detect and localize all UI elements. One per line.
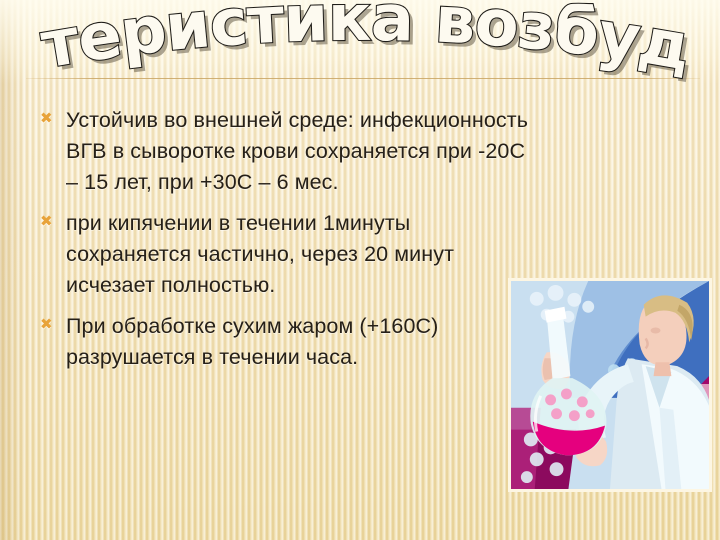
clipart-svg <box>511 281 709 489</box>
wordart-shadow-layer: Характеристика возбудителя <box>0 0 700 89</box>
title-divider-rule <box>26 78 700 79</box>
bullet-text: при кипячении в течении 1минуты сохраняе… <box>66 208 540 301</box>
bullet-text: При обработке сухим жаром (+160С) разруш… <box>66 311 540 373</box>
bullet-star-icon: ✖ <box>40 311 66 332</box>
slide-canvas: Характеристика возбудителя Характеристик… <box>0 0 720 540</box>
wordart-svg: Характеристика возбудителя Характеристик… <box>10 1 710 83</box>
bullet-star-icon: ✖ <box>40 105 66 126</box>
wordart-shadow-text: Характеристика возбудителя <box>0 0 700 89</box>
list-item: ✖ При обработке сухим жаром (+160С) разр… <box>40 311 540 373</box>
list-item: ✖ Устойчив во внешней среде: инфекционно… <box>40 105 540 198</box>
wordart-main-text: Характеристика возбудителя <box>0 0 696 85</box>
bullet-list: ✖ Устойчив во внешней среде: инфекционно… <box>40 105 540 383</box>
bullet-star-icon: ✖ <box>40 208 66 229</box>
bullet-text: Устойчив во внешней среде: инфекционност… <box>66 105 540 198</box>
lab-technician-clipart <box>508 278 712 492</box>
slide-title-wordart: Характеристика возбудителя Характеристик… <box>0 2 720 82</box>
wordart-main-layer: Характеристика возбудителя <box>0 0 696 85</box>
list-item: ✖ при кипячении в течении 1минуты сохран… <box>40 208 540 301</box>
